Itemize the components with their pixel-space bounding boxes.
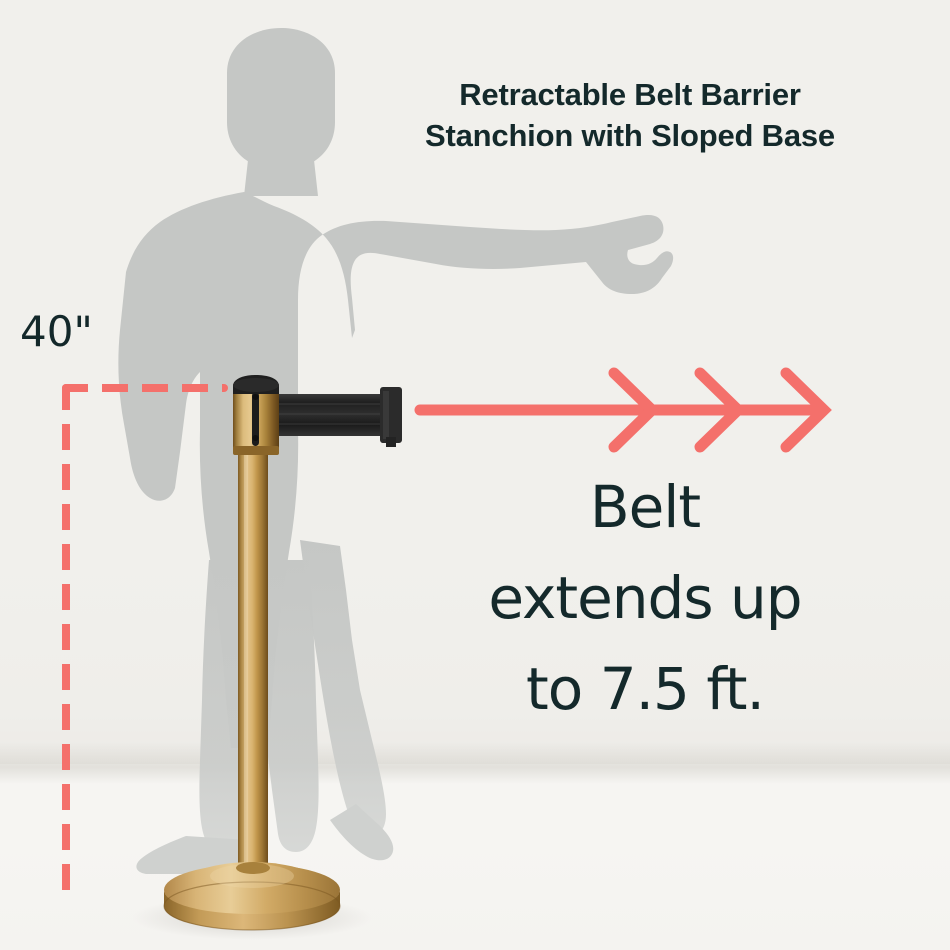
page-title: Retractable Belt Barrier Stanchion with … [340, 74, 920, 156]
height-label: 40" [20, 307, 93, 356]
height-dimension-horizontal-dash [62, 384, 228, 392]
caption-line-3: to 7.5 ft. [420, 644, 870, 735]
belt-extension-caption: Belt extends up to 7.5 ft. [420, 462, 870, 735]
title-line-1: Retractable Belt Barrier [459, 77, 801, 112]
caption-line-1: Belt [420, 462, 870, 553]
title-line-2: Stanchion with Sloped Base [340, 115, 920, 156]
height-dimension-vertical-dash [62, 384, 70, 902]
caption-line-2: extends up [420, 553, 870, 644]
product-infographic: Retractable Belt Barrier Stanchion with … [0, 0, 950, 950]
